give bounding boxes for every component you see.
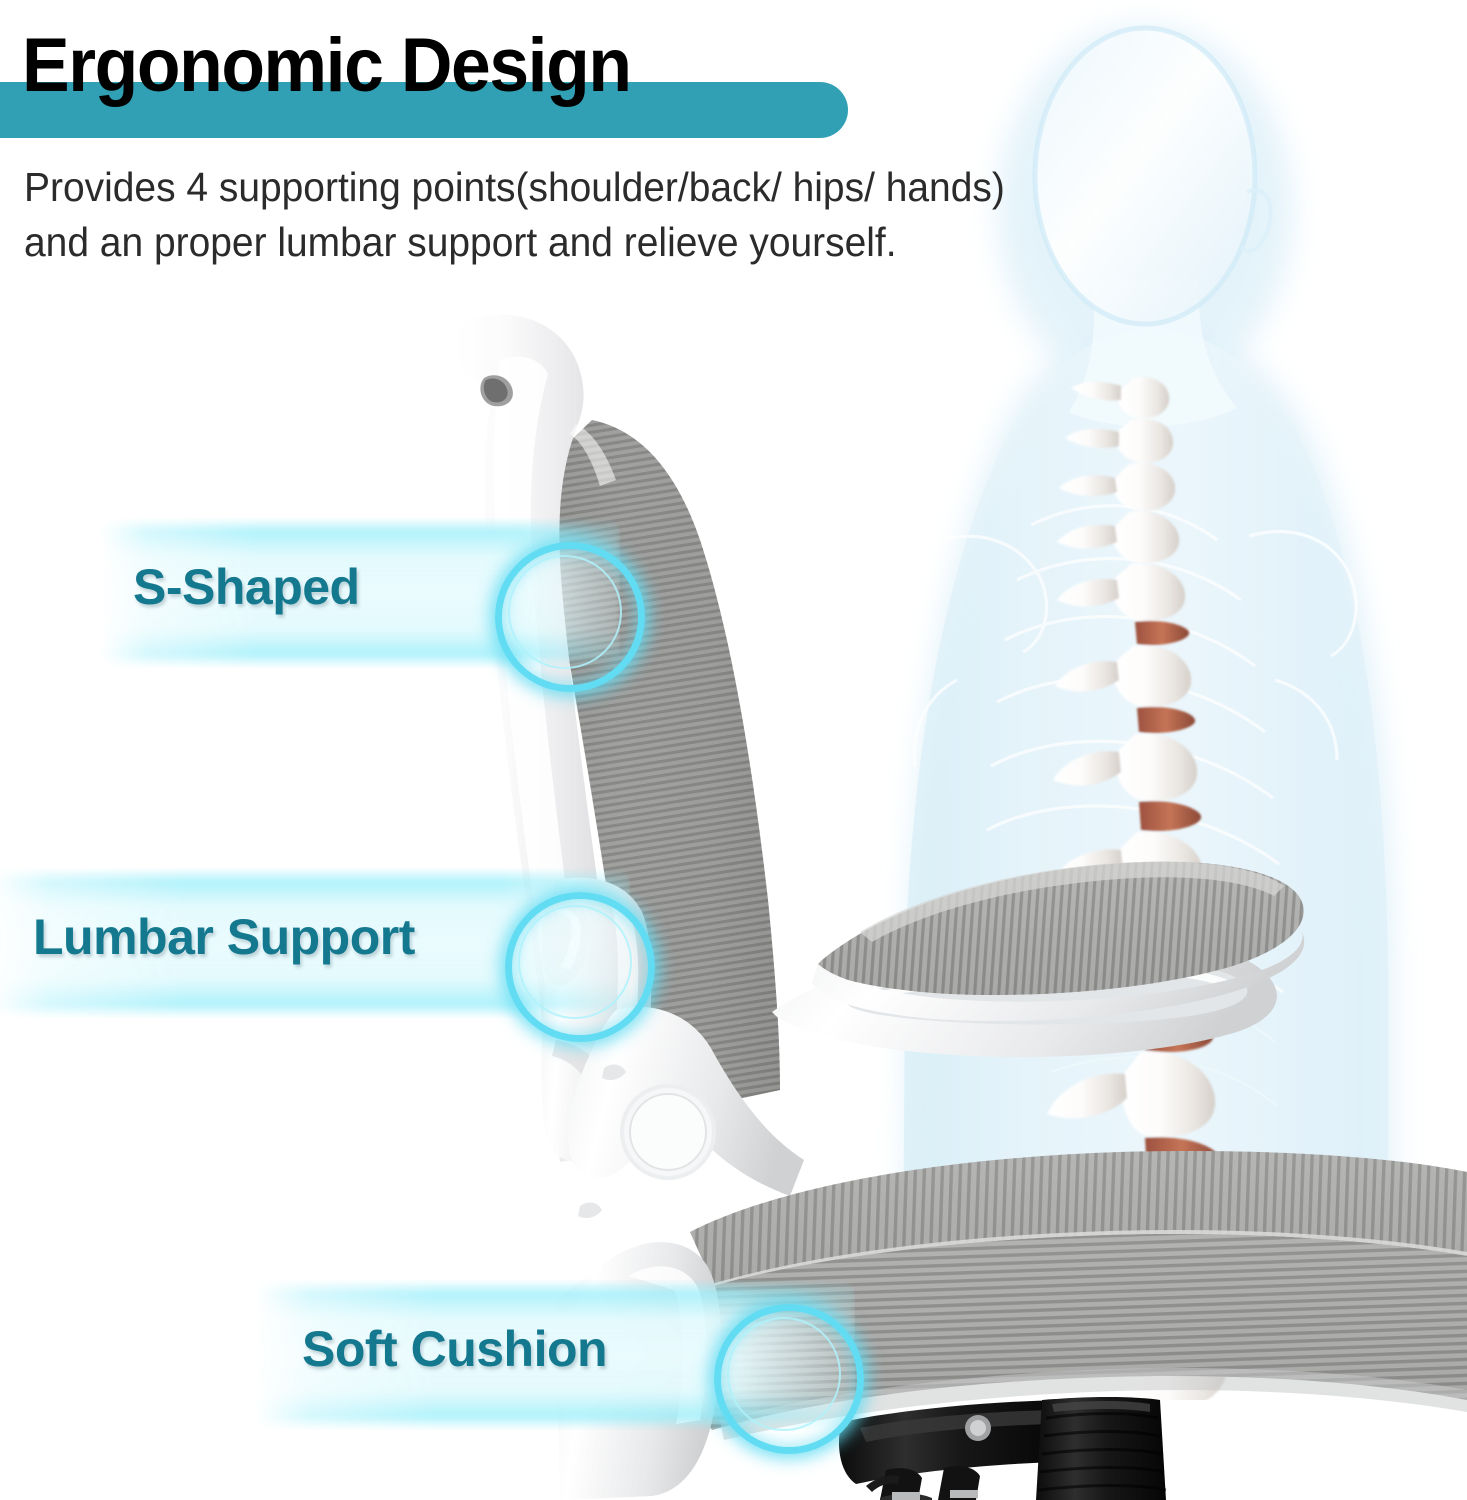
- subtitle-line-1: Provides 4 supporting points(shoulder/ba…: [24, 160, 1202, 215]
- page-title: Ergonomic Design: [22, 28, 631, 104]
- product-feature-image: Ergonomic Design Provides 4 supporting p…: [0, 0, 1467, 1500]
- highlight-ring-inner-s-shaped: [508, 555, 622, 669]
- callout-label-soft-cushion: Soft Cushion: [302, 1320, 607, 1378]
- highlight-ring-s-shaped: [495, 542, 645, 692]
- highlight-ring-inner-soft-cushion: [727, 1317, 841, 1431]
- callout-label-lumbar-support: Lumbar Support: [33, 908, 415, 966]
- highlight-ring-soft-cushion: [714, 1304, 864, 1454]
- subtitle-line-2: and an proper lumbar support and relieve…: [24, 215, 1202, 270]
- highlight-ring-lumbar-support: [505, 892, 655, 1042]
- highlight-ring-inner-lumbar-support: [518, 905, 632, 1019]
- header: Ergonomic Design Provides 4 supporting p…: [0, 0, 1467, 290]
- page-subtitle: Provides 4 supporting points(shoulder/ba…: [24, 160, 1202, 269]
- callout-label-s-shaped: S-Shaped: [133, 558, 360, 616]
